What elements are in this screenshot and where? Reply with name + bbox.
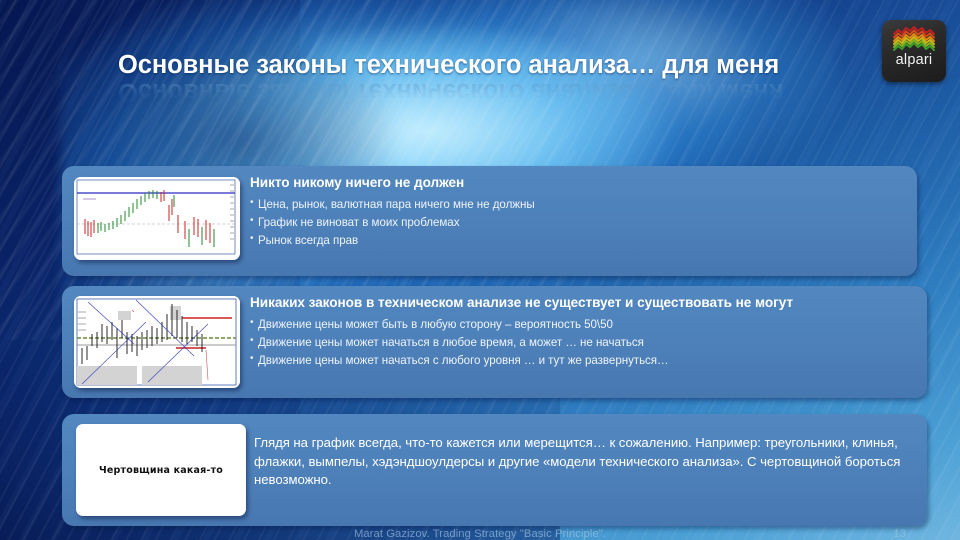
list-item: Движение цены может начаться в любое вре…: [250, 334, 917, 352]
content-box-1: Никто никому ничего не должен Цена, рыно…: [62, 166, 917, 276]
alpari-wordmark: alpari: [896, 53, 933, 68]
page-number: 13: [894, 528, 906, 540]
box-2-heading: Никаких законов в техническом анализе не…: [250, 295, 917, 311]
page-title-reflection: Основные законы технического анализа… дл…: [118, 78, 898, 105]
content-box-3: Чертовщина какая-то Глядя на график всег…: [62, 414, 927, 526]
list-item: Рынок всегда прав: [250, 232, 907, 250]
alpari-logo[interactable]: alpari: [882, 20, 946, 82]
box-1-bullet-list: Цена, рынок, валютная пара ничего мне не…: [250, 196, 907, 250]
chart-thumbnail-bars[interactable]: [74, 296, 240, 388]
list-item: График не виноват в моих проблемах: [250, 214, 907, 232]
content-box-3-body: Глядя на график всегда, что-то кажется и…: [254, 434, 917, 490]
title-block: Основные законы технического анализа… дл…: [118, 52, 898, 79]
box-1-heading: Никто никому ничего не должен: [250, 175, 907, 191]
slide-root: Основные законы технического анализа… дл…: [0, 0, 960, 540]
content-box-1-body: Никто никому ничего не должен Цена, рыно…: [250, 175, 907, 250]
bar-chart-svg: [74, 296, 240, 388]
background-map-continent: [95, 0, 815, 325]
footer-attribution: Marat Gazizov. Trading Strategy "Basic P…: [0, 528, 960, 540]
candlestick-chart-svg: [74, 177, 240, 260]
note-card-caption: Чертовщина какая-то: [76, 424, 246, 516]
alpari-arcs-icon: [890, 25, 938, 51]
list-item: Движение цены может быть в любую сторону…: [250, 316, 917, 334]
list-item: Цена, рынок, валютная пара ничего мне не…: [250, 196, 907, 214]
content-box-2: Никаких законов в техническом анализе не…: [62, 286, 927, 398]
note-card-thumbnail[interactable]: Чертовщина какая-то: [76, 424, 246, 516]
content-box-2-body: Никаких законов в техническом анализе не…: [250, 295, 917, 370]
chart-thumbnail-candlestick[interactable]: [74, 177, 240, 260]
list-item: Движение цены может начаться с любого ур…: [250, 352, 917, 370]
page-title: Основные законы технического анализа… дл…: [118, 52, 898, 79]
box-3-paragraph: Глядя на график всегда, что-то кажется и…: [254, 434, 917, 490]
box-2-bullet-list: Движение цены может быть в любую сторону…: [250, 316, 917, 370]
